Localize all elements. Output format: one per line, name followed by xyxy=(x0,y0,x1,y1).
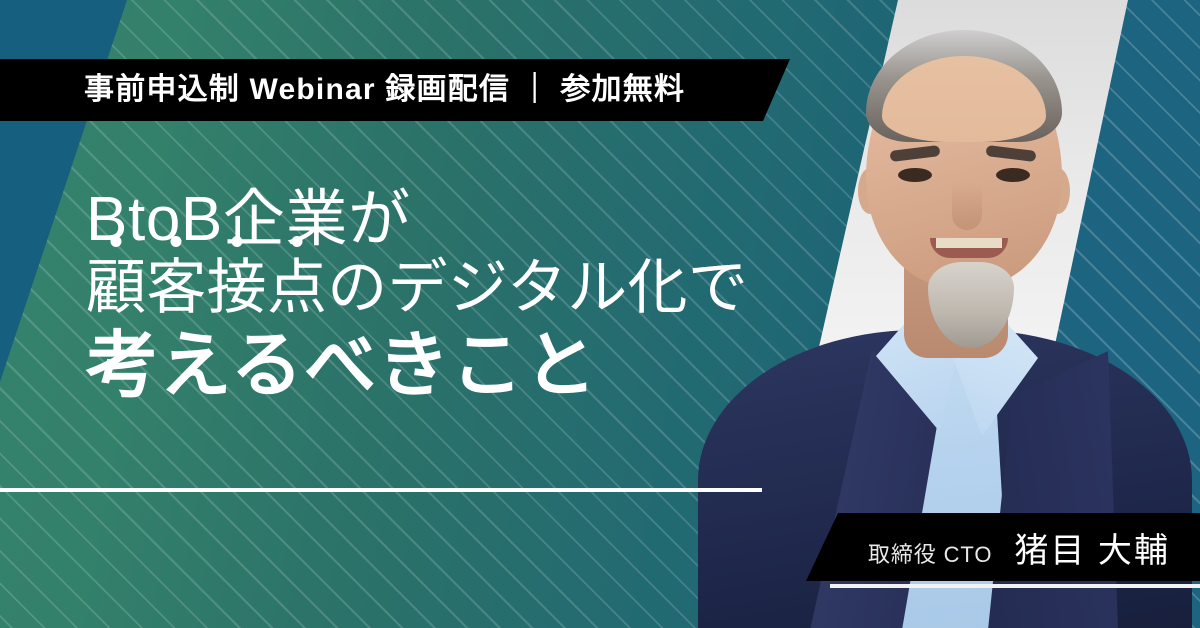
portrait-eye-right xyxy=(996,168,1030,182)
speaker-name: 猪目 大輔 xyxy=(1014,523,1170,572)
headline-divider-rule xyxy=(0,488,762,492)
headline-line-2: 顧客接点のデジタル化で xyxy=(86,254,726,321)
portrait-eye-left xyxy=(898,168,932,182)
headline-line-3: 考えるべきこと xyxy=(86,326,726,407)
event-info-text: 事前申込制 Webinar 録画配信 ｜ 参加無料 xyxy=(84,75,685,105)
emphasis-char-3: 接 xyxy=(207,254,267,321)
speaker-nameplate-rule xyxy=(830,584,1200,588)
emphasis-char-1: 顧 xyxy=(86,254,146,321)
portrait-teeth xyxy=(936,238,1002,248)
headline-line-2-rest: のデジタル化で xyxy=(327,254,748,321)
portrait-mouth xyxy=(930,238,1008,258)
emphasis-char-2: 客 xyxy=(146,254,206,321)
headline-block: BtoB企業が 顧客接点のデジタル化で 考えるべきこと xyxy=(86,185,726,406)
webinar-banner: 事前申込制 Webinar 録画配信 ｜ 参加無料 BtoB企業が 顧客接点のデ… xyxy=(0,0,1200,628)
emphasis-char-4: 点 xyxy=(267,254,327,321)
event-info-ribbon: 事前申込制 Webinar 録画配信 ｜ 参加無料 xyxy=(0,59,790,121)
headline-line-1: BtoB企業が xyxy=(86,185,726,254)
speaker-nameplate: 取締役 CTO 猪目 大輔 xyxy=(806,513,1200,581)
speaker-title: 取締役 CTO xyxy=(868,537,992,569)
speaker-nameplate-inner: 取締役 CTO 猪目 大輔 xyxy=(868,523,1170,572)
portrait-nose xyxy=(952,182,982,230)
